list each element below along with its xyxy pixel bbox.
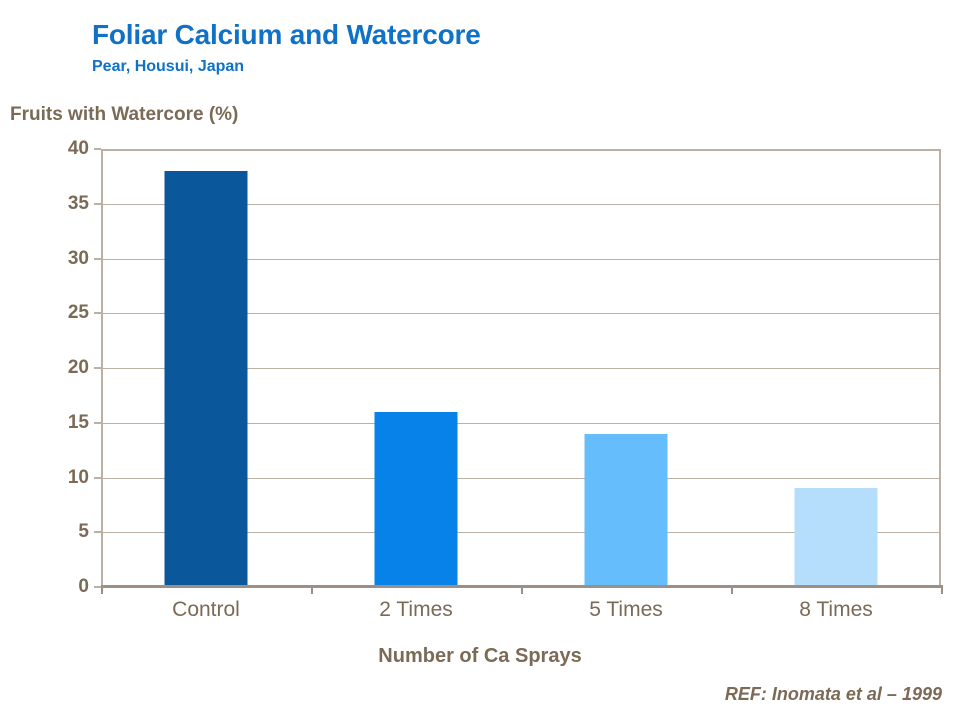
y-tick-label: 10 [68,467,89,489]
x-category-label: Control [172,598,240,622]
y-tick-label: 35 [68,193,89,215]
bar-slot [311,149,521,587]
y-axis-title: Fruits with Watercore (%) [10,104,238,126]
y-tick-mark [94,586,101,588]
y-tick-mark [94,312,101,314]
y-tick-mark [94,531,101,533]
bar-slot [731,149,941,587]
bar[interactable] [585,434,668,587]
x-category-label: 2 Times [379,598,453,622]
plot-area: 0510152025303540 [101,149,941,587]
y-tick-mark [94,477,101,479]
bar-series [101,149,941,587]
x-category-label: 8 Times [799,598,873,622]
y-tick-label: 0 [78,576,89,598]
x-tick-mark [101,585,103,594]
bar-slot [521,149,731,587]
page-title: Foliar Calcium and Watercore [92,20,792,51]
y-tick-label: 5 [78,521,89,543]
x-tick-mark [521,585,523,594]
y-tick-label: 15 [68,412,89,434]
bar[interactable] [165,171,248,587]
y-tick-label: 20 [68,357,89,379]
y-tick-mark [94,422,101,424]
title-block: Foliar Calcium and Watercore Pear, Housu… [92,20,792,76]
y-tick-mark [94,367,101,369]
bar-slot [101,149,311,587]
x-axis-title: Number of Ca Sprays [0,645,960,668]
y-tick-label: 30 [68,248,89,270]
x-category-label: 5 Times [589,598,663,622]
chart-subtitle: Pear, Housui, Japan [92,57,792,76]
y-tick-mark [94,148,101,150]
y-tick-mark [94,258,101,260]
x-tick-mark [731,585,733,594]
y-tick-label: 40 [68,138,89,160]
bar[interactable] [375,412,458,587]
y-tick-label: 25 [68,302,89,324]
reference-note: REF: Inomata et al – 1999 [725,684,942,705]
y-tick-mark [94,203,101,205]
bar[interactable] [795,488,878,587]
x-tick-mark [311,585,313,594]
x-tick-mark [941,585,943,594]
